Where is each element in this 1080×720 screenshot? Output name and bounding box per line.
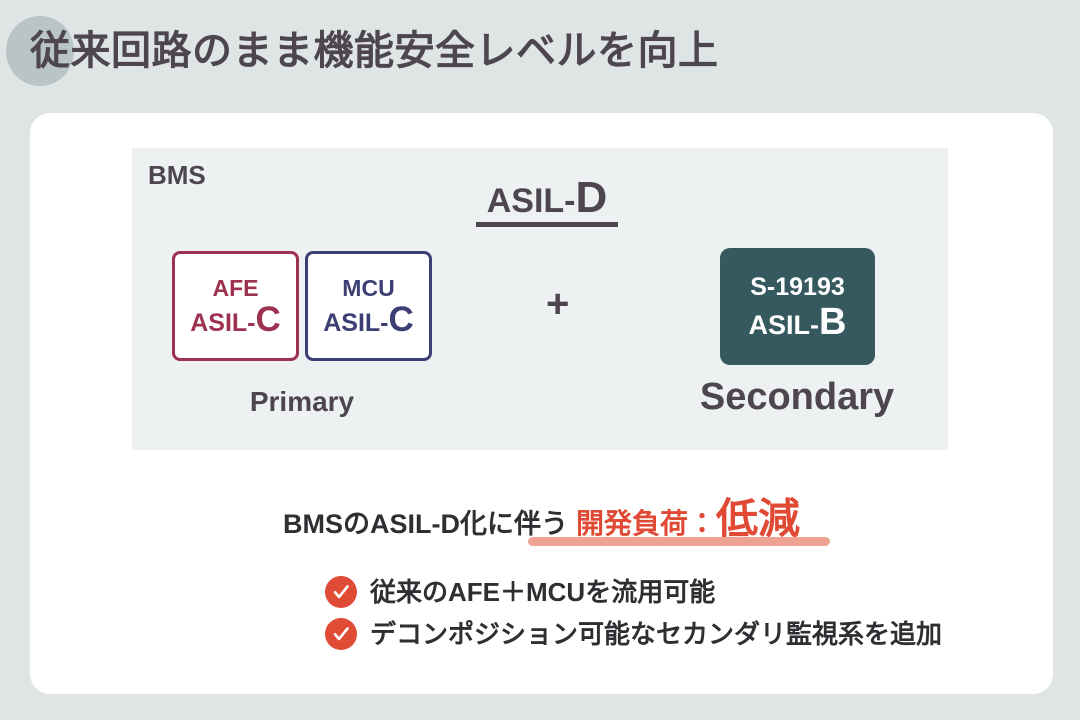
title-area: 従来回路のまま機能安全レベルを向上 [0, 0, 1080, 104]
chip-secondary-asil-prefix: ASIL- [749, 310, 820, 340]
chip-mcu-asil: ASIL-C [323, 303, 414, 340]
bms-panel: BMS ASIL-D AFE ASIL-C MCU ASIL-C + S-191… [132, 148, 948, 450]
bms-panel-label: BMS [148, 160, 206, 191]
check-circle-icon [325, 618, 357, 650]
chip-mcu-asil-prefix: ASIL- [323, 309, 388, 337]
chip-secondary[interactable]: S-19193 ASIL-B [720, 248, 875, 365]
target-asil-grade: D [576, 173, 608, 222]
benefit-highlight-value: 低減 [716, 495, 800, 542]
plus-operator-icon: + [546, 284, 569, 324]
primary-chip-group: AFE ASIL-C MCU ASIL-C [172, 251, 432, 361]
benefit-highlight-label: 開発負荷： [576, 508, 716, 539]
chip-mcu-asil-grade: C [389, 300, 414, 339]
chip-afe-asil-grade: C [256, 300, 281, 339]
page-title: 従来回路のまま機能安全レベルを向上 [30, 20, 719, 82]
benefit-lead-text: BMSのASIL-D化に伴う [283, 509, 568, 539]
checklist-item-text: 従来のAFE＋MCUを流用可能 [370, 576, 715, 608]
list-item: 従来のAFE＋MCUを流用可能 [325, 576, 942, 608]
secondary-caption: Secondary [697, 376, 897, 419]
checklist-item-text: デコンポジション可能なセカンダリ監視系を追加 [370, 618, 942, 650]
chip-secondary-part-number: S-19193 [750, 270, 845, 304]
chip-secondary-asil-grade: B [819, 301, 846, 343]
chip-afe-name: AFE [213, 273, 259, 303]
chip-secondary-asil: ASIL-B [749, 304, 847, 343]
chip-mcu-name: MCU [342, 273, 394, 303]
primary-caption: Primary [172, 386, 432, 418]
benefit-checklist: 従来のAFE＋MCUを流用可能 デコンポジション可能なセカンダリ監視系を追加 [325, 576, 942, 650]
benefit-underline-stroke [528, 537, 830, 546]
chip-mcu[interactable]: MCU ASIL-C [305, 251, 432, 361]
list-item: デコンポジション可能なセカンダリ監視系を追加 [325, 618, 942, 650]
chip-afe-asil-prefix: ASIL- [190, 309, 255, 337]
target-asil-level: ASIL-D [472, 178, 622, 227]
chip-afe[interactable]: AFE ASIL-C [172, 251, 299, 361]
target-asil-underline [476, 222, 618, 227]
content-card: BMS ASIL-D AFE ASIL-C MCU ASIL-C + S-191… [30, 113, 1053, 694]
check-circle-icon [325, 576, 357, 608]
target-asil-text: ASIL-D [472, 178, 622, 221]
chip-afe-asil: ASIL-C [190, 303, 281, 340]
target-asil-prefix: ASIL- [487, 182, 576, 220]
